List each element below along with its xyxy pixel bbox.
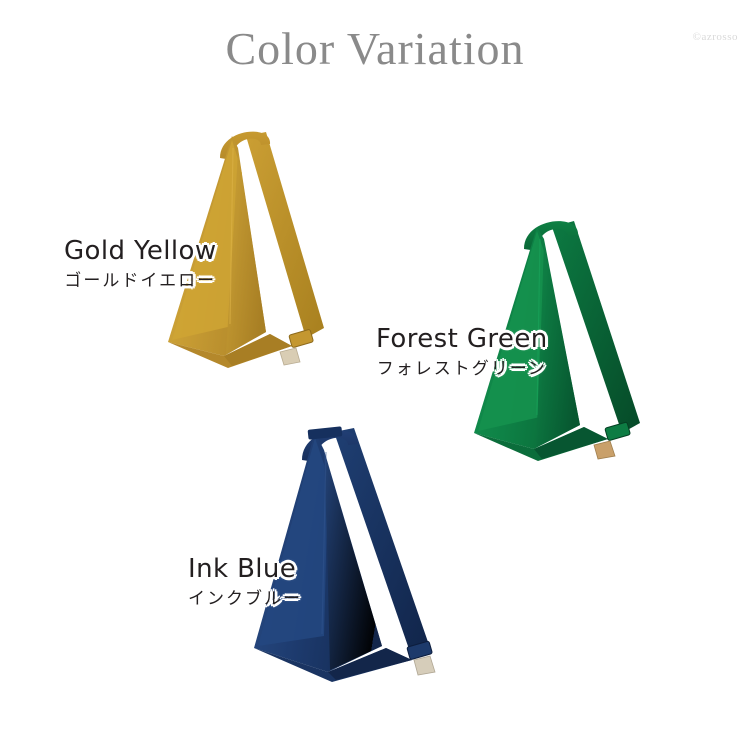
strap-buckle [289,329,314,348]
color-label-gold-yellow: Gold Yellow ゴールドイエロー [64,238,217,290]
color-name-en: Ink Blue [188,556,302,582]
strap-buckle [605,422,631,441]
color-label-ink-blue: Ink Blue インクブルー [188,556,302,608]
color-variation-page: Color Variation ©azrosso [0,0,750,750]
leather-tab [280,348,300,365]
page-title: Color Variation [0,22,750,75]
color-name-jp: インクブルー [188,591,302,608]
bag-image-ink-blue [232,420,482,685]
bag-body-facet-left [258,438,328,646]
leather-tab [414,656,435,675]
color-name-jp: フォレストグリーン [376,361,548,378]
color-name-en: Forest Green [376,326,548,352]
leather-tab [594,441,615,459]
color-name-en: Gold Yellow [64,238,217,264]
color-label-forest-green: Forest Green フォレストグリーン [376,326,548,378]
color-name-jp: ゴールドイエロー [64,273,217,290]
watermark: ©azrosso [693,31,738,43]
